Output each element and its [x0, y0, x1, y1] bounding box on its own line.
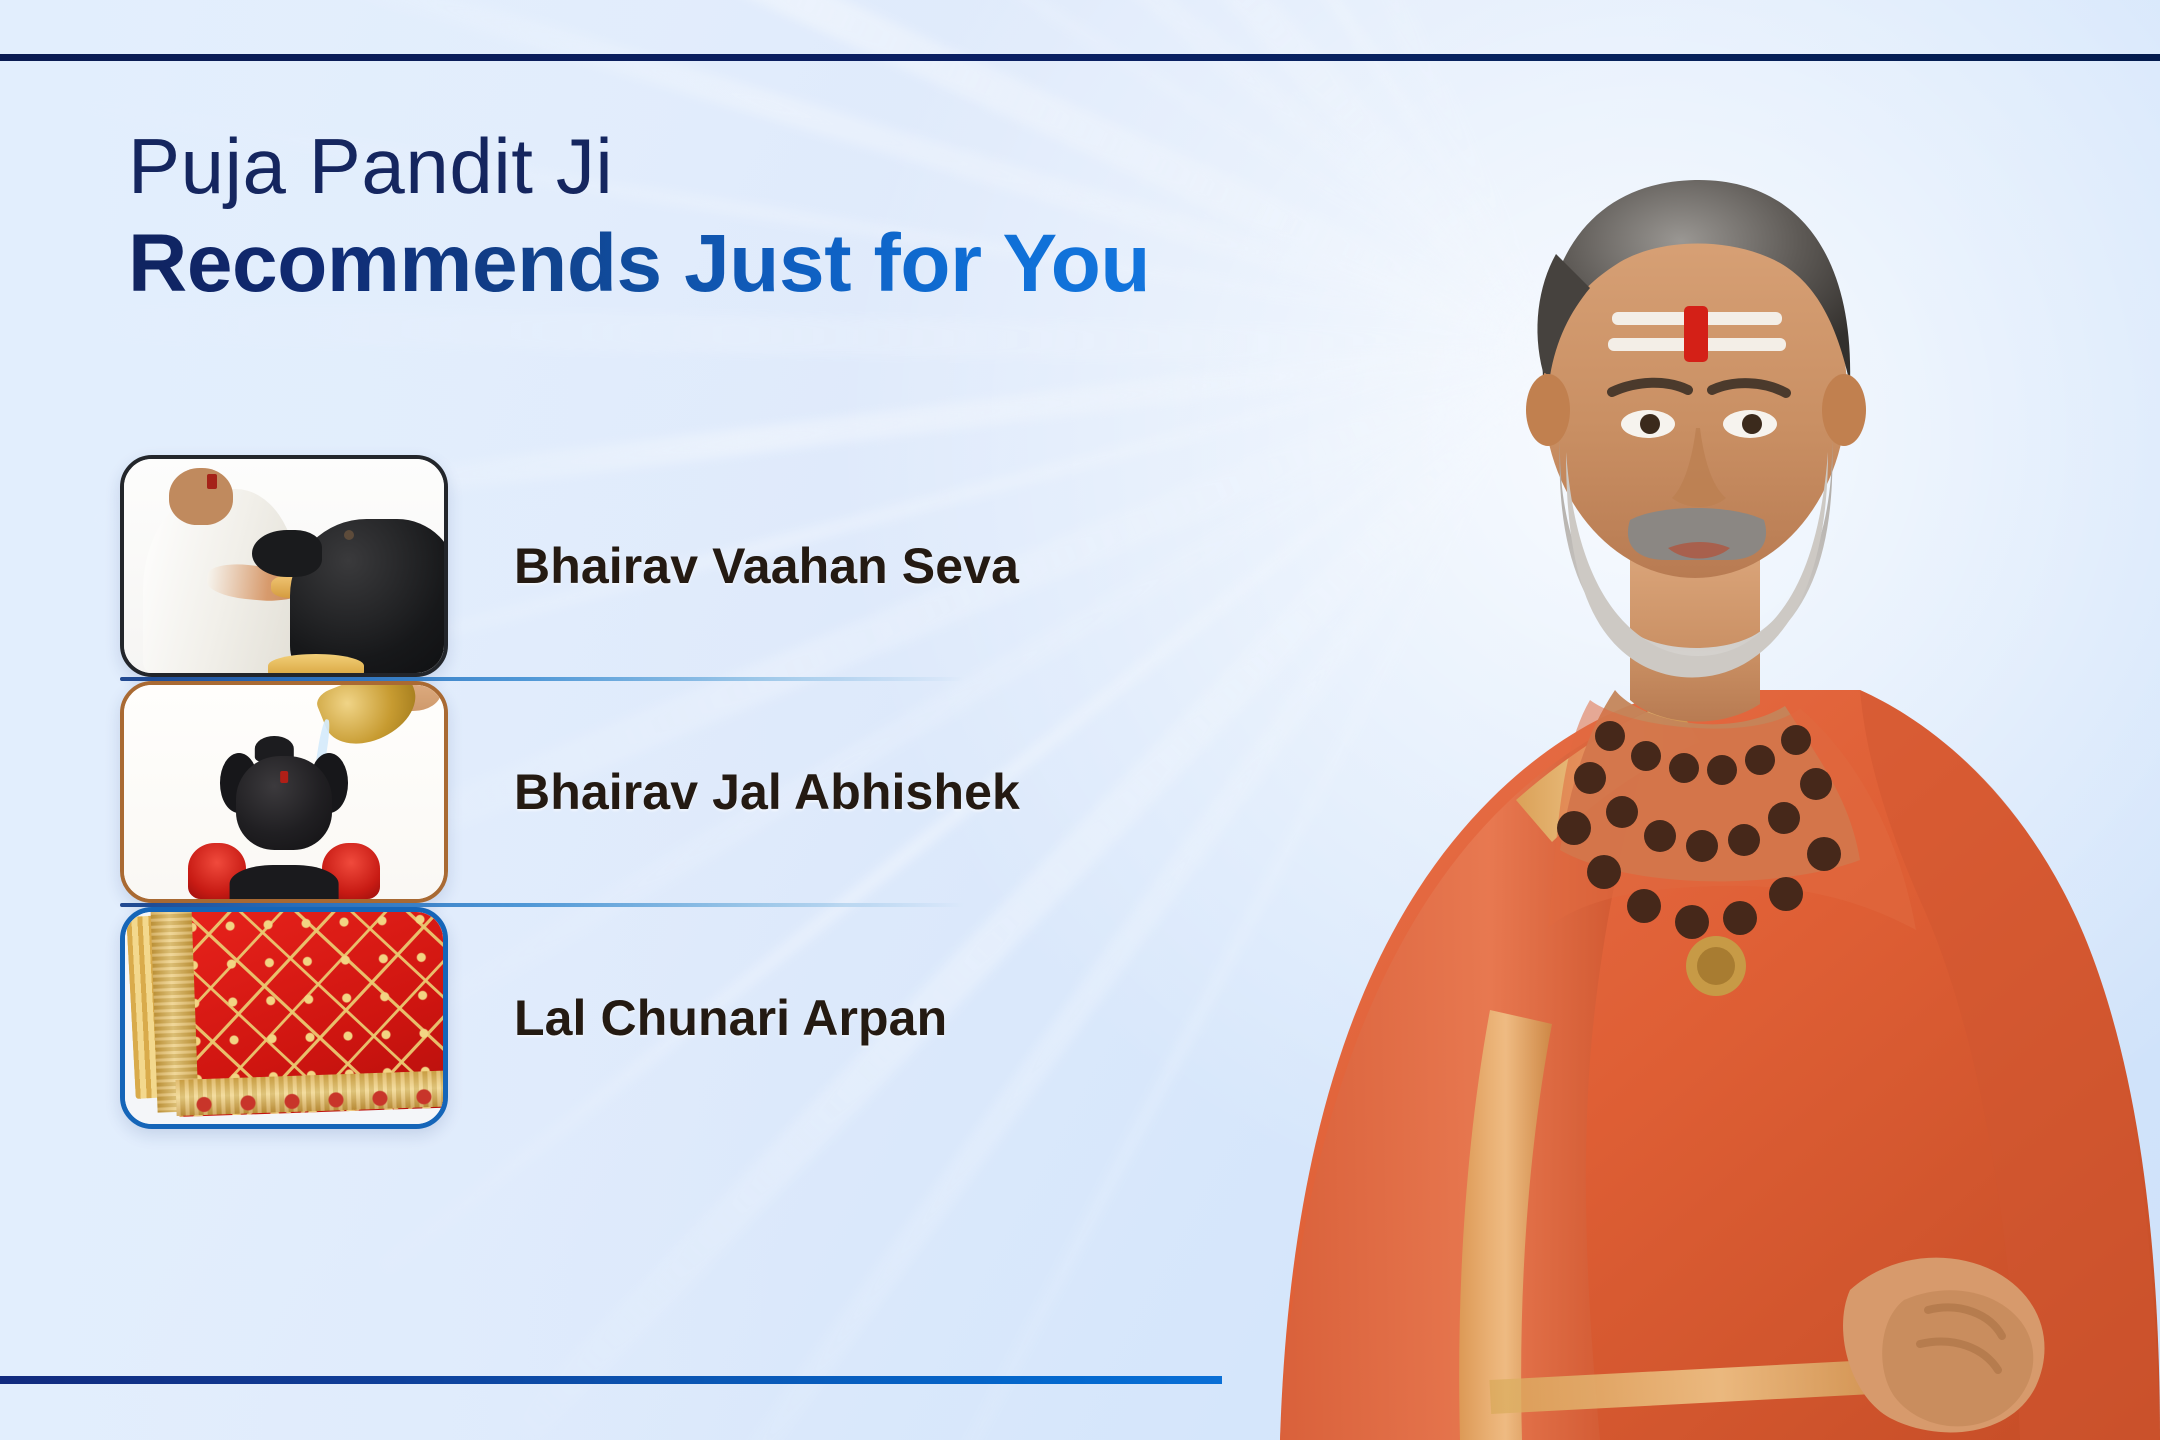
list-item-label: Lal Chunari Arpan	[514, 989, 947, 1047]
tilak-mark	[207, 474, 217, 489]
prasad-plate-shape	[268, 654, 364, 677]
idol-torso	[230, 865, 339, 903]
pandit-head-shape	[169, 468, 233, 526]
list-item[interactable]: Bhairav Jal Abhishek	[120, 681, 965, 903]
top-divider-rule	[0, 54, 2160, 61]
bottom-divider-rule	[0, 1376, 1222, 1384]
page-title: Puja Pandit Ji Recommends Just for You	[128, 126, 1150, 308]
list-item[interactable]: Bhairav Vaahan Seva	[120, 455, 965, 677]
thumbnail-artwork	[124, 459, 444, 673]
thumbnail-artwork	[124, 685, 444, 899]
title-line-primary: Puja Pandit Ji	[128, 126, 1150, 207]
thumbnail-artwork	[125, 912, 443, 1124]
gold-lota-vessel	[314, 681, 427, 756]
list-item-label: Bhairav Jal Abhishek	[514, 763, 1020, 821]
red-gold-chunari-thumbnail[interactable]	[120, 907, 448, 1129]
pandit-feeding-black-dog-thumbnail[interactable]	[120, 455, 448, 677]
idol-tilak-mark	[280, 771, 288, 784]
title-line-secondary: Recommends Just for You	[128, 221, 1150, 308]
list-item[interactable]: Lal Chunari Arpan	[120, 907, 965, 1129]
sunburst-ray	[60, 304, 1560, 368]
bhairav-idol-jal-abhishek-thumbnail[interactable]	[120, 681, 448, 903]
list-item-label: Bhairav Vaahan Seva	[514, 537, 1019, 595]
recommendation-list: Bhairav Vaahan Seva Bhai	[120, 455, 965, 1129]
recommendation-banner: Puja Pandit Ji Recommends Just for You B…	[0, 0, 2160, 1440]
black-dog-muzzle	[252, 530, 322, 577]
pandit-ji-portrait	[1160, 0, 2160, 1440]
